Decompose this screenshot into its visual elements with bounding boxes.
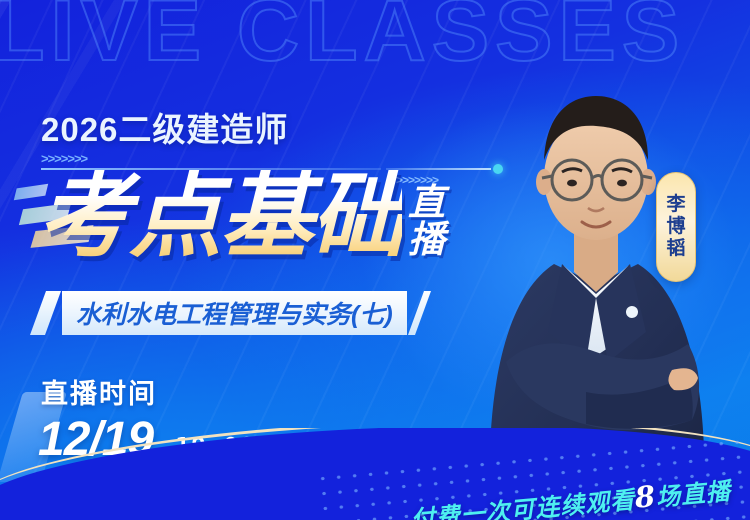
footer-promo-suffix: 场直播 — [655, 476, 732, 512]
subtitle-text: 水利水电工程管理与实务(七) — [76, 295, 393, 331]
live-class-poster: LIVE CLASSES 2026二级建造师 >>>>>>> >>>>>>> 考… — [0, 0, 750, 520]
course-eyebrow-title: 2026二级建造师 — [41, 103, 288, 151]
footer-ribbon: 付费一次可连续观看8场直播 — [0, 428, 750, 520]
footer-promo-count: 8 — [633, 479, 657, 515]
presenter-name-char-2: 博 — [666, 217, 685, 237]
subtitle-box: 水利水电工程管理与实务(七) — [62, 291, 407, 335]
presenter-name-char-1: 李 — [666, 195, 685, 215]
broadcast-time-label: 直播时间 — [41, 372, 157, 411]
presenter-name-char-3: 韬 — [666, 239, 685, 259]
presenter-name-badge: 李 博 韬 — [656, 172, 696, 282]
headline-group: 考点基础 直 播 — [38, 170, 445, 263]
page-title: 考点基础 — [38, 170, 402, 263]
subtitle-banner: 水利水电工程管理与实务(七) — [38, 291, 423, 335]
